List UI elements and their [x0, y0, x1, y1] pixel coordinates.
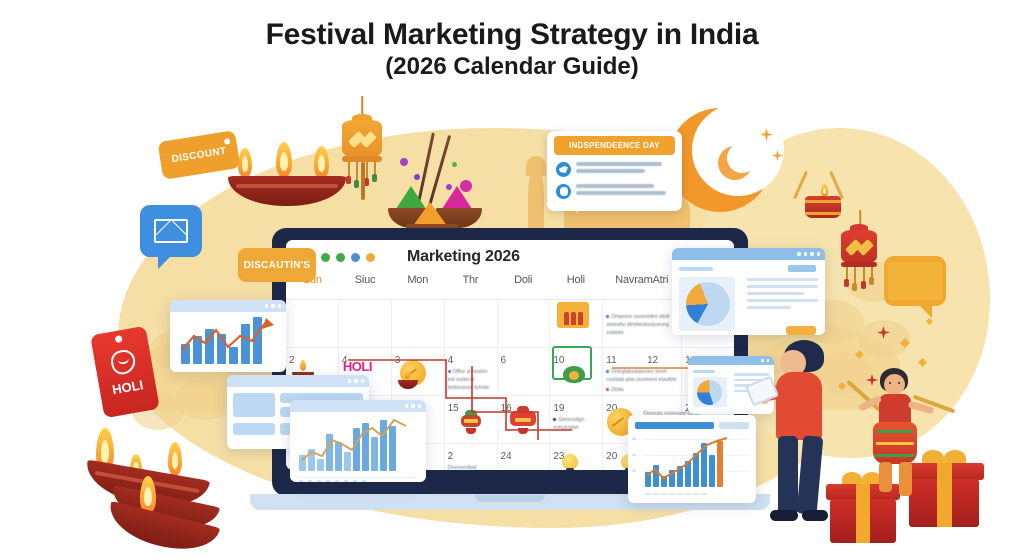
garba-dancer [846, 368, 952, 508]
trend-line [298, 416, 418, 472]
calendar-cell[interactable]: 11 12 Ontrgfabsiilainvien tmeh rourbab p… [603, 348, 681, 396]
window-dot-green[interactable] [321, 253, 330, 262]
calendar-title: Marketing 2026 [407, 248, 520, 266]
calendar-cell[interactable] [550, 300, 602, 348]
diya-flame [300, 360, 306, 371]
calendar-cell[interactable]: 10 [550, 348, 602, 396]
diya-flame [276, 142, 292, 178]
diya-flame [314, 146, 329, 179]
leg [899, 462, 912, 496]
card-titlebar [227, 375, 369, 387]
calendar-cell[interactable]: 23 Corprgiare bewwle tasbten chiorroir s… [550, 444, 602, 470]
page-title: Festival Marketing Strategy in India [0, 18, 1024, 52]
calendar-day-header-4[interactable]: Doli [497, 274, 550, 299]
leg [879, 462, 892, 492]
laptop-notch [475, 495, 545, 502]
calendar-day-number: 6 [501, 355, 507, 366]
calendar-note: Dtota [606, 387, 678, 395]
holi-tag-label: HOLI [111, 377, 144, 397]
calendar-day-number: 11 [606, 355, 616, 366]
trend-line [178, 316, 278, 366]
holi-label: HOLI [343, 359, 372, 374]
idea-bulb-icon [562, 454, 578, 470]
calendar-note: Genesslign evhuiciatet [553, 417, 599, 433]
calendar-column: 4 Offior al heslon lod ourtensi betlonso… [445, 300, 498, 470]
independence-day-card[interactable]: INDSPENDEENCE DAY [547, 131, 682, 211]
skirt-trim [876, 442, 914, 445]
calendar-note: Offior al heslon lod ourtensi betlonsosd… [448, 369, 494, 392]
lantern-icon [461, 410, 481, 434]
calendar-note: Dnsoventlad frornsnlab fuered bhlorisec [448, 465, 494, 470]
calendar-cell[interactable] [392, 300, 444, 348]
calendar-cell[interactable]: 15 [445, 396, 497, 444]
calendar-day-number: 20 [606, 451, 617, 462]
lantern-diamond [857, 239, 874, 256]
card-titlebar [290, 400, 426, 412]
diya-bowl [228, 176, 346, 206]
card-titlebar [672, 248, 825, 260]
face [884, 374, 905, 395]
independence-day-row [556, 184, 674, 199]
window-dot-blue[interactable] [351, 253, 360, 262]
temple-lamp-icon [510, 406, 536, 434]
hanging-lantern-red [840, 210, 880, 320]
window-dots [306, 253, 375, 262]
poster-title: Festival Marketing Strategy in India (20… [0, 18, 1024, 82]
confetti [452, 162, 457, 167]
calendar-day-number: 4 [448, 355, 454, 366]
independence-day-header: INDSPENDEENCE DAY [554, 136, 675, 155]
shoe [770, 510, 798, 521]
hanging-lantern-orange [340, 96, 384, 206]
diya-flame [238, 148, 252, 178]
combo-chart-card[interactable]: 60 40 20 [628, 415, 756, 503]
independence-day-row [556, 162, 674, 177]
calendar-cell[interactable] [498, 300, 550, 348]
diya-bowl [104, 501, 220, 559]
window-dot-orange[interactable] [366, 253, 375, 262]
ganesh-icon [562, 362, 586, 384]
analytics-browser-card[interactable] [672, 248, 825, 335]
calendar-day-number: 12 [647, 355, 658, 366]
calendar-cell[interactable]: 4 Offior al heslon lod ourtensi betlonso… [445, 348, 497, 396]
drum-stripe [805, 212, 841, 215]
festival-icon [557, 302, 589, 328]
calendar-day-header-2[interactable]: Mon [391, 274, 444, 299]
calendar-day-header-1[interactable]: Siuc [339, 274, 392, 299]
confetti [446, 184, 452, 190]
calendar-note: Ompoive oosenetlot sliott simeshu idmiti… [606, 314, 678, 337]
envelope-icon [154, 219, 188, 243]
envelope-icon [888, 262, 942, 300]
diya-icon [398, 380, 418, 389]
drum-stripe [805, 200, 841, 203]
email-bubble-blue[interactable] [140, 205, 202, 257]
email-bubble-orange[interactable] [884, 256, 946, 306]
calendar-cell[interactable]: 19 Genesslign evhuiciatet [550, 396, 602, 444]
torso [776, 372, 822, 440]
confetti [414, 174, 420, 180]
calendar-cell[interactable]: Ompoive oosenetlot sliott simeshu idmiti… [603, 300, 681, 348]
discounts-tag-label: DISCAUTIN'S [244, 260, 311, 271]
calendar-cell[interactable]: 2 Dnsoventlad frornsnlab fuered bhlorise… [445, 444, 497, 470]
calendar-day-header-6[interactable]: NavramAtri [602, 274, 681, 299]
donut-chart [686, 282, 730, 326]
calendar-toolbar: Marketing 2026 [286, 240, 734, 274]
confetti [400, 158, 408, 166]
diya-flame [405, 370, 410, 379]
shoe [802, 510, 828, 521]
moon-small [718, 146, 752, 180]
trend-line [643, 436, 749, 488]
calendar-cell[interactable]: 3 [392, 348, 444, 396]
diya-lamp-bottom-left-2 [96, 452, 216, 559]
calendar-cell[interactable]: 16 [498, 396, 550, 444]
calendar-note: Ontrgfabsiilainvien tmeh rourbab pba cio… [606, 369, 678, 385]
facebook-icon[interactable] [556, 184, 571, 199]
calendar-day-header-3[interactable]: Thr [444, 274, 497, 299]
window-dot-green[interactable] [336, 253, 345, 262]
calendar-cell[interactable] [445, 300, 497, 348]
calendar-cell[interactable] [286, 300, 338, 348]
person-with-tablet [756, 340, 852, 559]
skirt-trim [877, 430, 913, 433]
bar-chart-card[interactable] [290, 400, 426, 482]
page-subtitle: (2026 Calendar Guide) [0, 52, 1024, 82]
cta-button[interactable] [786, 326, 816, 335]
calendar-column: 6 16 24 [498, 300, 551, 470]
calendar-day-number: 2 [448, 451, 454, 462]
diya-lamp-top [228, 148, 348, 228]
calendar-cell[interactable]: 6 [498, 348, 550, 396]
poster-canvas: Festival Marketing Strategy in India (20… [0, 0, 1024, 559]
card-titlebar [170, 300, 286, 312]
skirt-trim [875, 454, 915, 457]
calendar-day-number: 15 [448, 403, 459, 414]
blob-texture [858, 320, 910, 358]
minaret-dome [526, 156, 546, 176]
donut-chart [697, 380, 722, 405]
holi-color-bowls [386, 132, 506, 242]
leg [797, 435, 824, 514]
calendar-cell[interactable] [339, 300, 391, 348]
calendar-day-headers: Sun Siuc Mon Thr Doli Holi NavramAtri Ei… [286, 274, 734, 300]
discounts-tag[interactable]: DISCAUTIN'S [238, 248, 316, 282]
twitter-icon[interactable] [556, 162, 571, 177]
holi-tag-face-icon [109, 348, 137, 376]
crescent-moon-icon [668, 108, 788, 228]
calendar-day-number: 19 [553, 403, 564, 414]
growth-trend-card[interactable] [170, 300, 286, 372]
discount-tag-label: DISCOUNT [171, 145, 227, 165]
calendar-day-header-5[interactable]: Holi [550, 274, 603, 299]
calendar-day-number: 3 [395, 355, 401, 366]
confetti [460, 180, 472, 192]
calendar-day-number: 24 [501, 451, 512, 462]
primary-action-chip[interactable] [788, 265, 816, 272]
leg [778, 436, 798, 514]
lantern-diamond [360, 131, 377, 148]
drum-stick [793, 171, 808, 200]
calendar-column: 10 19 Genesslign evhuiciatet [550, 300, 603, 470]
calendar-cell[interactable]: 24 [498, 444, 550, 470]
